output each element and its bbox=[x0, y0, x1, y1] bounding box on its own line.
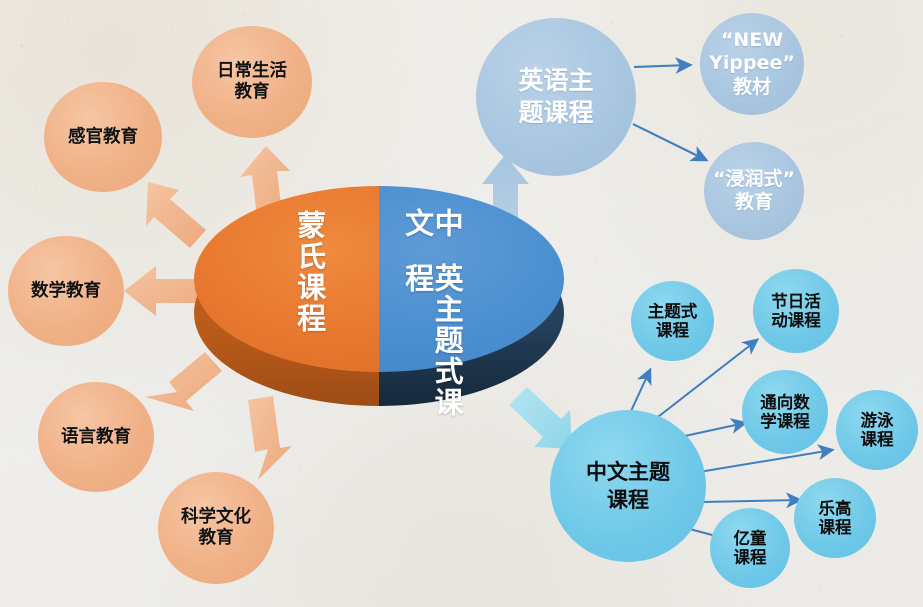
node-festival-course[interactable]: 节日活 动课程 bbox=[753, 269, 839, 353]
pie-label-montessori: 蒙氏课程 bbox=[294, 210, 324, 334]
node-lego-course-label: 乐高 课程 bbox=[819, 499, 852, 538]
node-immersion-label: “浸润式” 教育 bbox=[713, 168, 795, 214]
thin-arrow-chinese-to-math-path bbox=[680, 423, 745, 437]
node-thematic-course[interactable]: 主题式 课程 bbox=[631, 281, 714, 361]
node-daily-life-label: 日常生活 教育 bbox=[217, 61, 287, 102]
node-science-culture[interactable]: 科学文化 教育 bbox=[158, 472, 274, 584]
node-english-hub[interactable]: 英语主 题课程 bbox=[476, 18, 636, 176]
node-math-label: 数学教育 bbox=[31, 281, 101, 302]
curriculum-diagram: 蒙氏课程 英主题式课程 中文 日常生活 教育 感官教育 数学教育 语言教育 科学… bbox=[0, 0, 923, 607]
node-yitong-course-label: 亿童 课程 bbox=[734, 529, 767, 568]
node-chinese-hub-label: 中文主题 课程 bbox=[586, 458, 670, 515]
node-thematic-course-label: 主题式 课程 bbox=[648, 302, 698, 341]
pie-label-bilingual: 英主题式课程 中文 bbox=[402, 208, 461, 426]
node-lego-course[interactable]: 乐高 课程 bbox=[794, 478, 876, 558]
pie-label-bilingual-col1: 中文 bbox=[402, 208, 461, 262]
node-math-path-course-label: 通向数 学课程 bbox=[760, 393, 810, 432]
node-sensory[interactable]: 感官教育 bbox=[44, 82, 162, 192]
thin-arrow-chinese-to-lego bbox=[703, 500, 800, 502]
node-language[interactable]: 语言教育 bbox=[38, 382, 154, 492]
pie-label-bilingual-col2: 英主题式课程 bbox=[402, 263, 461, 426]
thin-arrow-english-to-yippee bbox=[634, 65, 690, 67]
node-new-yippee[interactable]: “NEW Yippee” 教材 bbox=[700, 13, 804, 115]
node-swimming-course-label: 游泳 课程 bbox=[861, 411, 894, 450]
node-math-path-course[interactable]: 通向数 学课程 bbox=[742, 370, 828, 454]
thin-arrow-chinese-to-swimming bbox=[699, 450, 832, 472]
node-swimming-course[interactable]: 游泳 课程 bbox=[836, 390, 918, 470]
node-yitong-course[interactable]: 亿童 课程 bbox=[710, 508, 790, 588]
node-language-label: 语言教育 bbox=[61, 427, 131, 448]
thin-arrow-english-to-immersion bbox=[633, 124, 706, 160]
node-math[interactable]: 数学教育 bbox=[8, 236, 124, 346]
node-english-hub-label: 英语主 题课程 bbox=[518, 65, 593, 130]
node-immersion[interactable]: “浸润式” 教育 bbox=[704, 142, 804, 240]
node-festival-course-label: 节日活 动课程 bbox=[771, 292, 821, 331]
node-science-culture-label: 科学文化 教育 bbox=[181, 507, 251, 548]
node-daily-life[interactable]: 日常生活 教育 bbox=[192, 26, 312, 138]
central-pie-chart: 蒙氏课程 英主题式课程 中文 bbox=[194, 186, 564, 426]
node-new-yippee-label: “NEW Yippee” 教材 bbox=[709, 29, 795, 99]
node-sensory-label: 感官教育 bbox=[68, 127, 138, 148]
node-chinese-hub[interactable]: 中文主题 课程 bbox=[550, 410, 706, 562]
